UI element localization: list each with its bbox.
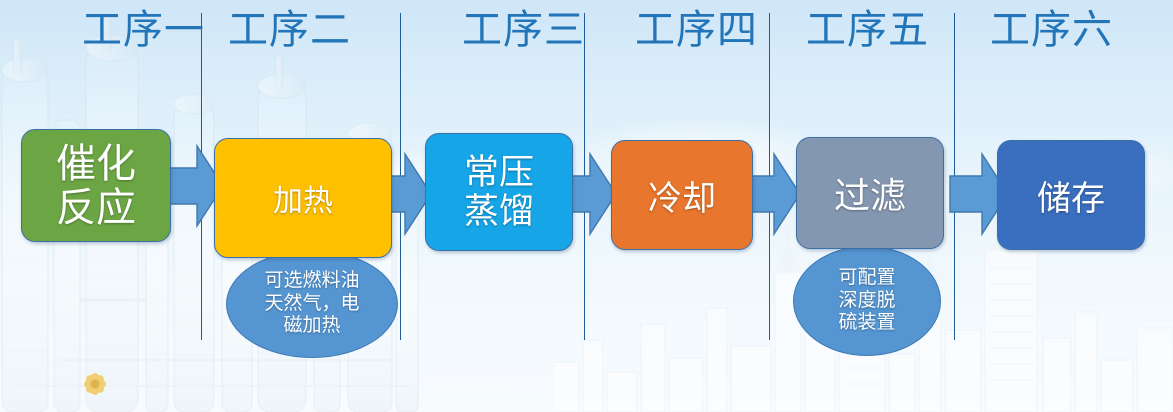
box-line: 储存 [1037,171,1105,220]
process-box-atmospheric-distillation[interactable]: 常压 蒸馏 [425,133,573,251]
stage-header-5: 工序五 [806,10,929,50]
process-box-storage[interactable]: 储存 [997,140,1145,250]
note-line: 天然气，电 [264,293,359,315]
process-box-label: 常压 蒸馏 [464,153,534,231]
stage-5-note-text: 可配置 深度脱 硫装置 [838,267,895,334]
note-line: 可配置 [838,267,895,289]
box-line: 反应 [56,186,136,229]
box-line: 蒸馏 [464,192,534,231]
note-line: 可选燃料油 [264,270,359,292]
note-line: 深度脱 [838,290,895,312]
background-sunflower-icon [72,364,118,406]
process-box-label: 催化 反应 [56,142,136,228]
box-line: 加热 [273,176,333,220]
process-flow-diagram: 工序一 工序二 工序三 工序四 工序五 工序六 可选燃料油 天然气，电 磁加热 … [0,0,1173,412]
note-line: 硫装置 [838,312,895,334]
process-box-filtration[interactable]: 过滤 [796,137,944,249]
box-line: 冷却 [648,171,716,220]
stage-header-1: 工序一 [82,10,205,50]
process-box-cooling[interactable]: 冷却 [611,140,753,250]
stage-2-note-text: 可选燃料油 天然气，电 磁加热 [264,270,359,337]
stage-header-4: 工序四 [635,10,758,50]
note-line: 磁加热 [264,315,359,337]
process-box-catalytic-reaction[interactable]: 催化 反应 [21,129,171,242]
stage-2-note-ellipse: 可选燃料油 天然气，电 磁加热 [226,250,398,358]
box-line: 过滤 [834,167,906,219]
stage-header-3: 工序三 [462,10,585,50]
process-box-label: 过滤 [834,167,906,219]
box-line: 常压 [464,153,534,192]
process-box-label: 冷却 [648,171,716,220]
box-line: 催化 [56,142,136,185]
process-box-label: 加热 [273,176,333,220]
stage-header-6: 工序六 [990,10,1113,50]
stage-header-2: 工序二 [228,10,351,50]
stage-5-note-ellipse: 可配置 深度脱 硫装置 [793,246,941,356]
process-box-label: 储存 [1037,171,1105,220]
process-box-heating[interactable]: 加热 [214,138,392,258]
